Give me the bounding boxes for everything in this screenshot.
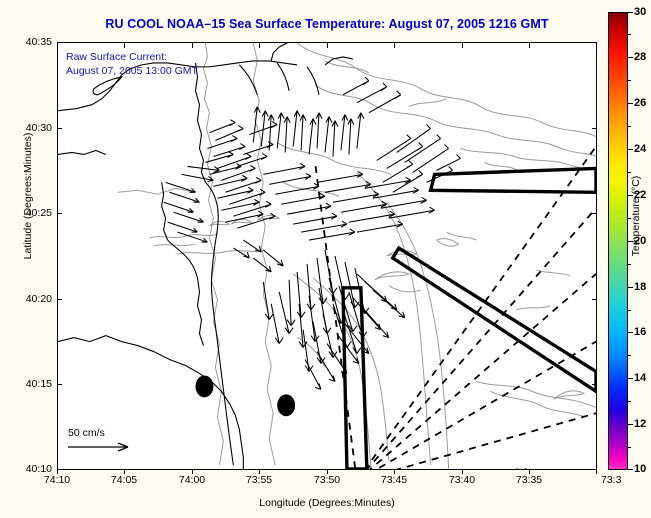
y-tick <box>57 42 62 43</box>
x-tick-label: 73:35 <box>516 474 542 486</box>
x-tick <box>596 469 597 474</box>
map-graphics <box>58 43 596 469</box>
y-axis-title: Latitude (Degrees:Minutes) <box>22 116 34 276</box>
x-tick-top <box>462 43 463 48</box>
x-tick-top <box>327 43 328 48</box>
y-tick <box>57 384 62 385</box>
colorbar-tick-minor <box>628 447 631 448</box>
y-tick <box>57 469 62 470</box>
x-tick-label: 73:55 <box>246 474 272 486</box>
x-tick-label: 74:05 <box>111 474 137 486</box>
x-tick-top <box>529 43 530 48</box>
y-tick <box>57 213 62 214</box>
station-marker <box>277 394 295 416</box>
colorbar-tick <box>628 12 633 13</box>
y-tick-right <box>592 213 597 214</box>
colorbar-tick-minor <box>628 401 631 402</box>
colorbar-tick <box>628 57 633 58</box>
y-tick-label: 40:10 <box>14 463 52 475</box>
x-tick-top <box>394 43 395 48</box>
x-tick-label: 73:40 <box>449 474 475 486</box>
x-tick-top <box>259 43 260 48</box>
colorbar-label: 26 <box>634 97 646 109</box>
colorbar-label: 12 <box>634 418 646 430</box>
colorbar <box>608 12 628 470</box>
station-marker <box>195 375 213 397</box>
chart-title: RU COOL NOAA–15 Sea Surface Temperature:… <box>57 17 597 31</box>
x-tick-label: 73:50 <box>314 474 340 486</box>
colorbar-tick <box>628 424 633 425</box>
bathymetry-contours <box>118 43 596 469</box>
surface-current-vectors <box>164 77 461 390</box>
y-tick-label: 40:15 <box>14 378 52 390</box>
figure-canvas: RU COOL NOAA–15 Sea Surface Temperature:… <box>0 0 651 518</box>
colorbar-tick <box>628 332 633 333</box>
colorbar-tick <box>628 103 633 104</box>
map-plot-area[interactable]: Raw Surface Current: August 07, 2005 13:… <box>57 42 597 470</box>
colorbar-label: 10 <box>634 463 646 475</box>
y-tick-label: 40:20 <box>14 293 52 305</box>
colorbar-tick <box>628 469 633 470</box>
colorbar-label: 16 <box>634 326 646 338</box>
scale-key-arrow-icon <box>66 439 162 455</box>
x-tick-label: 73:45 <box>381 474 407 486</box>
colorbar-tick-minor <box>628 126 631 127</box>
radar-beam-rays <box>315 147 596 469</box>
colorbar-label: 30 <box>634 6 646 18</box>
colorbar-tick-minor <box>628 80 631 81</box>
colorbar-tick <box>628 378 633 379</box>
coastline <box>58 43 353 469</box>
x-tick-top <box>192 43 193 48</box>
y-tick <box>57 299 62 300</box>
colorbar-tick-minor <box>628 310 631 311</box>
x-tick-top <box>124 43 125 48</box>
scale-key: 50 cm/s <box>66 427 162 455</box>
y-tick-right <box>592 299 597 300</box>
x-tick-label: 73:3 <box>601 474 621 486</box>
colorbar-title: Temperature (°C) <box>630 136 642 296</box>
colorbar-tick-minor <box>628 34 631 35</box>
x-axis-title: Longitude (Degrees:Minutes) <box>57 497 597 509</box>
y-tick-right <box>592 128 597 129</box>
station-markers <box>195 375 295 416</box>
y-tick-label: 40:35 <box>14 36 52 48</box>
colorbar-tick-minor <box>628 355 631 356</box>
x-tick-label: 74:10 <box>44 474 70 486</box>
colorbar-label: 14 <box>634 372 646 384</box>
colorbar-label: 28 <box>634 51 646 63</box>
wedge-lower <box>343 288 367 469</box>
y-tick <box>57 128 62 129</box>
x-tick-label: 74:00 <box>179 474 205 486</box>
scale-key-label: 50 cm/s <box>66 427 162 439</box>
y-tick-right <box>592 384 597 385</box>
